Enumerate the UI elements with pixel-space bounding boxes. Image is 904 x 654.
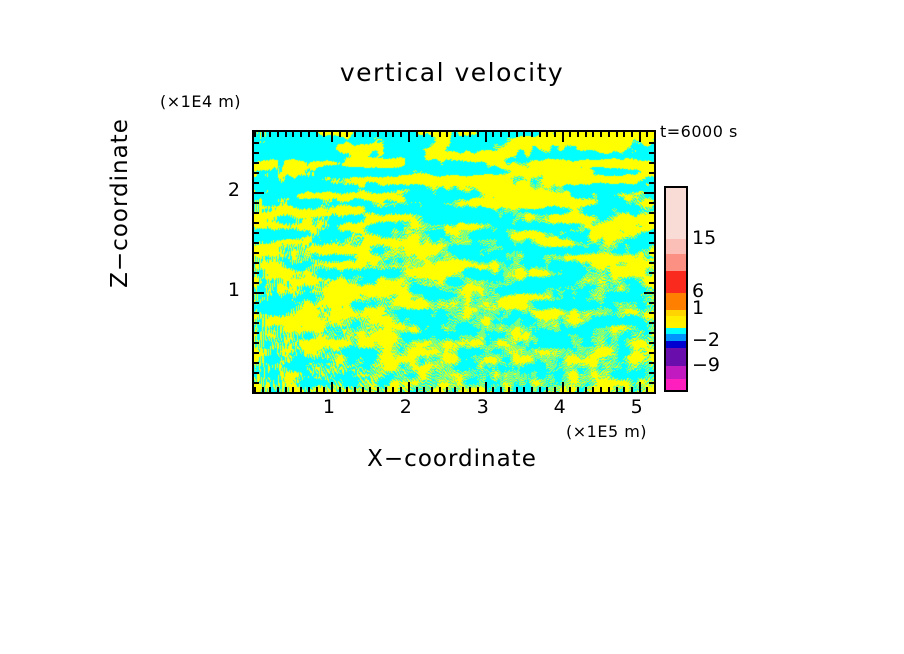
axis-tick [331, 132, 333, 142]
axis-tick [346, 132, 348, 137]
axis-tick [523, 132, 525, 137]
axis-tick [254, 382, 259, 384]
y-axis-title: Z−coordinate [107, 73, 133, 333]
colorbar-band [666, 271, 686, 292]
axis-tick [649, 312, 654, 314]
colorbar [664, 186, 688, 392]
axis-tick [562, 132, 564, 142]
axis-tick [649, 232, 654, 234]
axis-tick [254, 142, 259, 144]
axis-tick [492, 387, 494, 392]
axis-tick [385, 132, 387, 137]
axis-tick [654, 132, 656, 137]
colorbar-band [666, 334, 686, 341]
axis-tick [531, 387, 533, 392]
axis-tick [508, 387, 510, 392]
axis-tick [439, 132, 441, 137]
axis-tick [469, 132, 471, 137]
axis-tick [262, 132, 264, 137]
axis-tick [516, 387, 518, 392]
axis-tick [649, 392, 654, 394]
axis-tick [285, 132, 287, 137]
axis-tick [649, 212, 654, 214]
axis-tick [377, 387, 379, 392]
axis-tick [462, 132, 464, 137]
colorbar-band [666, 254, 686, 271]
axis-tick [649, 172, 654, 174]
axis-tick [254, 202, 259, 204]
axis-tick [254, 322, 259, 324]
axis-tick [644, 292, 654, 294]
axis-tick [385, 387, 387, 392]
axis-tick [646, 132, 648, 137]
axis-tick [254, 132, 256, 137]
axis-tick [254, 362, 259, 364]
x-tick-label: 1 [323, 396, 335, 418]
axis-tick [377, 132, 379, 137]
axis-tick [616, 387, 618, 392]
axis-tick [577, 387, 579, 392]
colorbar-tick-label: −9 [692, 354, 720, 376]
axis-tick [254, 152, 259, 154]
axis-tick [439, 387, 441, 392]
axis-tick [254, 212, 259, 214]
axis-tick [523, 387, 525, 392]
axis-tick [600, 387, 602, 392]
axis-tick [539, 132, 541, 137]
axis-tick [254, 282, 259, 284]
colorbar-band [666, 293, 686, 310]
axis-tick [649, 332, 654, 334]
axis-tick [469, 387, 471, 392]
x-tick-label: 5 [631, 396, 643, 418]
axis-tick [649, 162, 654, 164]
y-axis-unit-label: (×1E4 m) [160, 92, 241, 111]
axis-tick [554, 132, 556, 137]
axis-tick [649, 302, 654, 304]
colorbar-band [666, 341, 686, 348]
plot-area [252, 130, 656, 394]
axis-tick [362, 132, 364, 137]
axis-tick [485, 132, 487, 142]
axis-tick [254, 392, 259, 394]
axis-tick [477, 132, 479, 137]
axis-tick [254, 242, 259, 244]
axis-tick [649, 272, 654, 274]
axis-tick [454, 387, 456, 392]
axis-tick [516, 132, 518, 137]
axis-tick [569, 132, 571, 137]
axis-tick [592, 387, 594, 392]
axis-tick [454, 132, 456, 137]
colorbar-band [666, 379, 686, 390]
axis-tick [254, 312, 259, 314]
axis-tick [649, 372, 654, 374]
axis-tick [639, 382, 641, 392]
axis-tick [500, 387, 502, 392]
axis-tick [649, 382, 654, 384]
axis-tick [254, 172, 259, 174]
axis-tick [254, 342, 259, 344]
axis-tick [308, 387, 310, 392]
axis-tick [369, 132, 371, 137]
axis-tick [649, 222, 654, 224]
axis-tick [416, 387, 418, 392]
axis-tick [477, 387, 479, 392]
axis-tick [254, 292, 264, 294]
axis-tick [339, 387, 341, 392]
page-title: vertical velocity [0, 58, 904, 87]
axis-tick [277, 132, 279, 137]
axis-tick [362, 387, 364, 392]
axis-tick [323, 387, 325, 392]
axis-tick [492, 132, 494, 137]
axis-tick [631, 132, 633, 137]
axis-tick [577, 132, 579, 137]
axis-tick [300, 132, 302, 137]
axis-tick [649, 262, 654, 264]
axis-tick [254, 372, 259, 374]
axis-tick [600, 132, 602, 137]
x-tick-label: 4 [554, 396, 566, 418]
colorbar-band [666, 239, 686, 254]
axis-tick [649, 352, 654, 354]
x-axis-unit-label: (×1E5 m) [566, 422, 647, 441]
axis-tick [639, 132, 641, 142]
axis-tick [623, 132, 625, 137]
axis-tick [423, 387, 425, 392]
colorbar-band [666, 188, 686, 239]
axis-tick [323, 132, 325, 137]
axis-tick [254, 272, 259, 274]
axis-tick [308, 132, 310, 137]
axis-tick [408, 382, 410, 392]
colorbar-band [666, 366, 686, 379]
colorbar-tick-label: 15 [692, 227, 716, 249]
axis-tick [277, 387, 279, 392]
axis-tick [269, 132, 271, 137]
axis-tick [400, 387, 402, 392]
axis-tick [539, 387, 541, 392]
axis-tick [649, 282, 654, 284]
axis-tick [562, 382, 564, 392]
axis-tick [608, 132, 610, 137]
velocity-field-heatmap [254, 132, 654, 392]
axis-tick [392, 132, 394, 137]
axis-tick [339, 132, 341, 137]
axis-tick [546, 132, 548, 137]
axis-tick [446, 132, 448, 137]
colorbar-band [666, 348, 686, 366]
axis-tick [508, 132, 510, 137]
axis-tick [644, 192, 654, 194]
axis-tick [531, 132, 533, 137]
y-tick-label: 1 [216, 279, 240, 301]
axis-tick [262, 387, 264, 392]
axis-tick [569, 387, 571, 392]
axis-tick [608, 387, 610, 392]
axis-tick [254, 162, 259, 164]
axis-tick [400, 132, 402, 137]
axis-tick [649, 362, 654, 364]
axis-tick [592, 132, 594, 137]
axis-tick [292, 387, 294, 392]
axis-tick [300, 387, 302, 392]
axis-tick [316, 132, 318, 137]
axis-tick [649, 242, 654, 244]
axis-tick [254, 332, 259, 334]
axis-tick [585, 132, 587, 137]
axis-tick [254, 182, 259, 184]
time-annotation: t=6000 s [660, 122, 738, 141]
axis-tick [431, 132, 433, 137]
axis-tick [354, 132, 356, 137]
axis-tick [585, 387, 587, 392]
axis-tick [546, 387, 548, 392]
axis-tick [392, 387, 394, 392]
axis-tick [254, 302, 259, 304]
axis-tick [554, 387, 556, 392]
axis-tick [654, 387, 656, 392]
y-tick-label: 2 [216, 179, 240, 201]
axis-tick [485, 382, 487, 392]
axis-tick [316, 387, 318, 392]
axis-tick [623, 387, 625, 392]
colorbar-tick-label: −2 [692, 329, 720, 351]
axis-tick [616, 132, 618, 137]
axis-tick [646, 387, 648, 392]
axis-tick [285, 387, 287, 392]
axis-tick [423, 132, 425, 137]
axis-tick [649, 182, 654, 184]
axis-tick [649, 142, 654, 144]
axis-tick [346, 387, 348, 392]
axis-tick [254, 222, 259, 224]
axis-tick [254, 352, 259, 354]
axis-tick [269, 387, 271, 392]
axis-tick [649, 322, 654, 324]
axis-tick [408, 132, 410, 142]
axis-tick [416, 132, 418, 137]
axis-tick [254, 252, 259, 254]
axis-tick [254, 262, 259, 264]
x-axis-title: X−coordinate [252, 446, 652, 472]
axis-tick [331, 382, 333, 392]
axis-tick [649, 152, 654, 154]
axis-tick [462, 387, 464, 392]
axis-tick [500, 132, 502, 137]
axis-tick [631, 387, 633, 392]
x-tick-label: 3 [477, 396, 489, 418]
x-tick-label: 2 [400, 396, 412, 418]
axis-tick [431, 387, 433, 392]
axis-tick [369, 387, 371, 392]
axis-tick [649, 252, 654, 254]
axis-tick [446, 387, 448, 392]
axis-tick [354, 387, 356, 392]
axis-tick [254, 232, 259, 234]
axis-tick [649, 342, 654, 344]
axis-tick [254, 192, 264, 194]
axis-tick [292, 132, 294, 137]
axis-tick [649, 202, 654, 204]
colorbar-tick-label: 1 [692, 297, 704, 319]
